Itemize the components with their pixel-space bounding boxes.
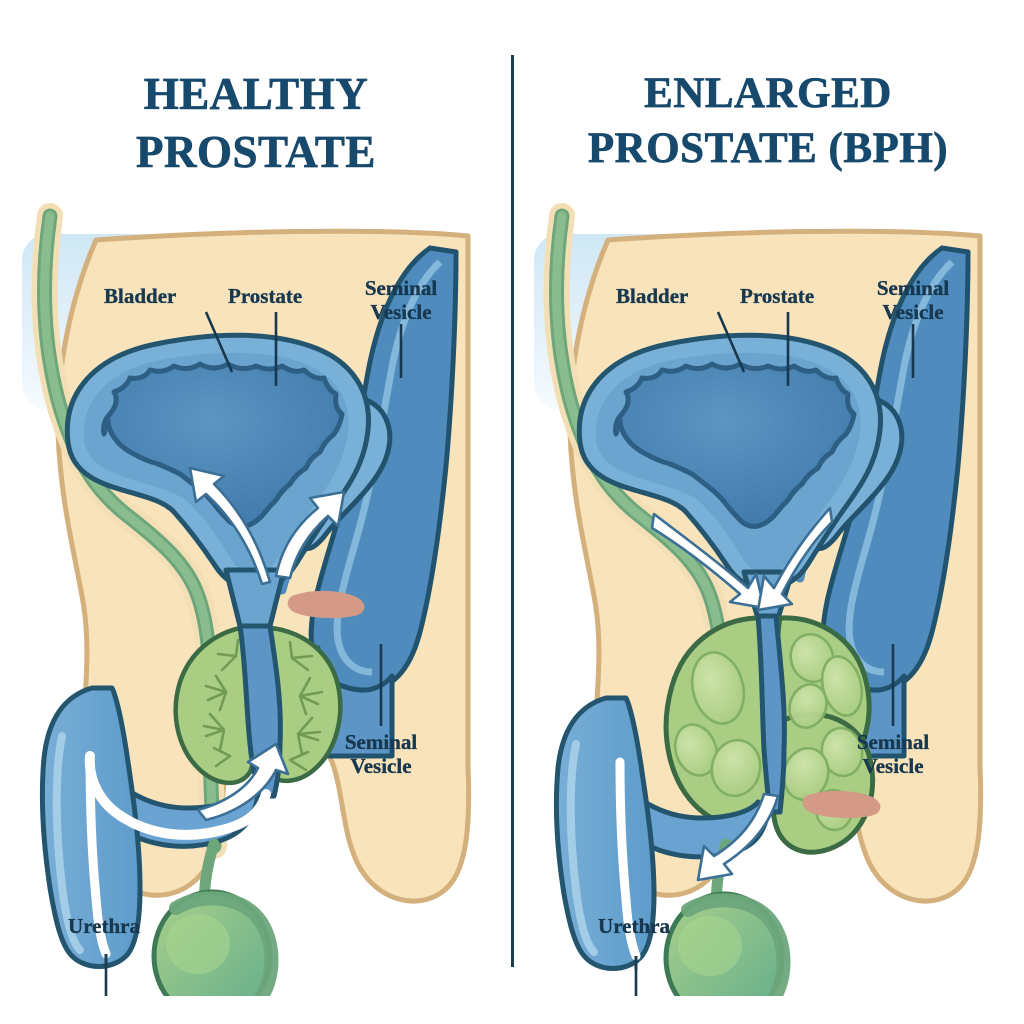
title-line-1: HEALTHY bbox=[0, 66, 512, 124]
label-seminal-vesicle-bottom: Seminal Vesicle bbox=[345, 730, 417, 778]
panel-enlarged-prostate: ENLARGED PROSTATE (BPH) bbox=[512, 0, 1024, 1024]
label-urethra: Urethra bbox=[68, 914, 140, 938]
label-prostate: Prostate bbox=[228, 284, 302, 308]
title-line-2: PROSTATE (BPH) bbox=[512, 121, 1024, 176]
label-bladder: Bladder bbox=[104, 284, 176, 308]
label-seminal-vesicle-top: Seminal Vesicle bbox=[877, 276, 949, 324]
diagram-canvas: HEALTHY PROSTATE bbox=[0, 0, 1024, 1024]
panel-divider bbox=[511, 55, 514, 967]
label-prostate: Prostate bbox=[740, 284, 814, 308]
title-line-2: PROSTATE bbox=[0, 124, 512, 182]
label-bladder: Bladder bbox=[616, 284, 688, 308]
label-seminal-vesicle-top: Seminal Vesicle bbox=[365, 276, 437, 324]
label-urethra: Urethra bbox=[598, 914, 670, 938]
panel-title-enlarged: ENLARGED PROSTATE (BPH) bbox=[512, 66, 1024, 176]
panel-title-healthy: HEALTHY PROSTATE bbox=[0, 66, 512, 181]
title-line-1: ENLARGED bbox=[512, 66, 1024, 121]
panel-healthy-prostate: HEALTHY PROSTATE bbox=[0, 0, 512, 1024]
label-seminal-vesicle-bottom: Seminal Vesicle bbox=[857, 730, 929, 778]
